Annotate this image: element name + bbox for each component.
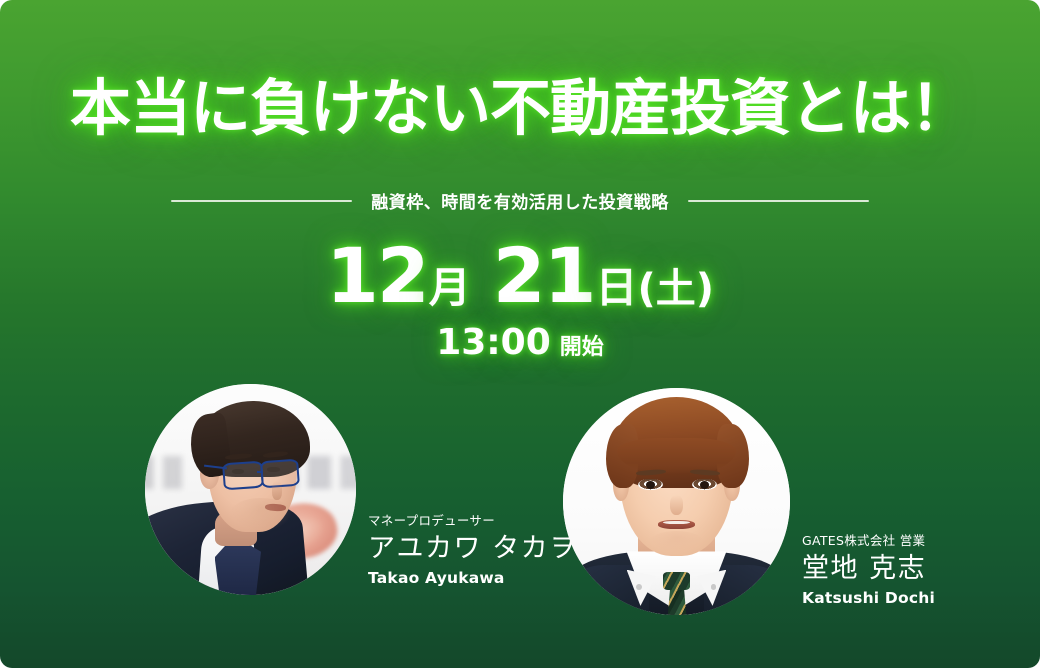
- photo-nose: [670, 495, 684, 515]
- date-day-of-week: (土): [638, 269, 715, 309]
- date-month-number: 12: [326, 238, 428, 314]
- speaker-1-romaji: Takao Ayukawa: [368, 569, 578, 587]
- speaker-2-org: GATES株式会社 営業: [802, 530, 935, 549]
- photo-chin-shading: [649, 531, 703, 554]
- subtitle-row: 融資枠、時間を有効活用した投資戦略: [0, 188, 1040, 213]
- photo-jaw-shading: [229, 498, 292, 532]
- photo-pupil-left: [646, 481, 655, 489]
- speaker-2-photo: [563, 388, 790, 615]
- photo-bangs: [617, 438, 735, 474]
- divider-line-left: [171, 200, 352, 202]
- photo-necktie-knot: [663, 572, 690, 590]
- speaker-2-text: GATES株式会社 営業 堂地 克志 Katsushi Dochi: [790, 530, 935, 615]
- photo-glasses-left: [222, 461, 264, 491]
- photo-nose: [272, 481, 283, 500]
- title-block: 本当に負けない不動産投資とは！: [0, 78, 1040, 139]
- time-suffix: 開始: [560, 337, 604, 359]
- event-date: 12 月 21 日 (土): [0, 238, 1040, 314]
- speaker-1-text: マネープロデューサー アユカワ タカヲ Takao Ayukawa: [356, 510, 578, 595]
- seminar-banner: 本当に負けない不動産投資とは！ 融資枠、時間を有効活用した投資戦略 12 月 2…: [0, 0, 1040, 668]
- photo-collar-button-left: [636, 584, 642, 590]
- photo-teeth: [663, 521, 690, 525]
- speaker-2-romaji: Katsushi Dochi: [802, 589, 935, 607]
- speaker-1-name: アユカワ タカヲ: [368, 535, 578, 563]
- time-value: 13:00: [436, 325, 551, 361]
- speaker-2-name: 堂地 克志: [802, 555, 935, 583]
- date-month-unit: 月: [429, 267, 471, 309]
- photo-glasses-bridge: [257, 471, 263, 473]
- date-day-number: 21: [493, 238, 595, 314]
- main-title: 本当に負けない不動産投資とは！: [0, 78, 1040, 139]
- speaker-1-org: マネープロデューサー: [368, 510, 578, 529]
- speaker-card-1: マネープロデューサー アユカワ タカヲ Takao Ayukawa: [145, 384, 578, 595]
- divider-line-right: [688, 200, 869, 202]
- subtitle-text: 融資枠、時間を有効活用した投資戦略: [371, 188, 669, 213]
- speaker-1-photo: [145, 384, 356, 595]
- event-time: 13:00 開始: [0, 325, 1040, 361]
- speaker-card-2: GATES株式会社 営業 堂地 克志 Katsushi Dochi: [563, 388, 935, 615]
- date-day-unit: 日: [595, 267, 637, 309]
